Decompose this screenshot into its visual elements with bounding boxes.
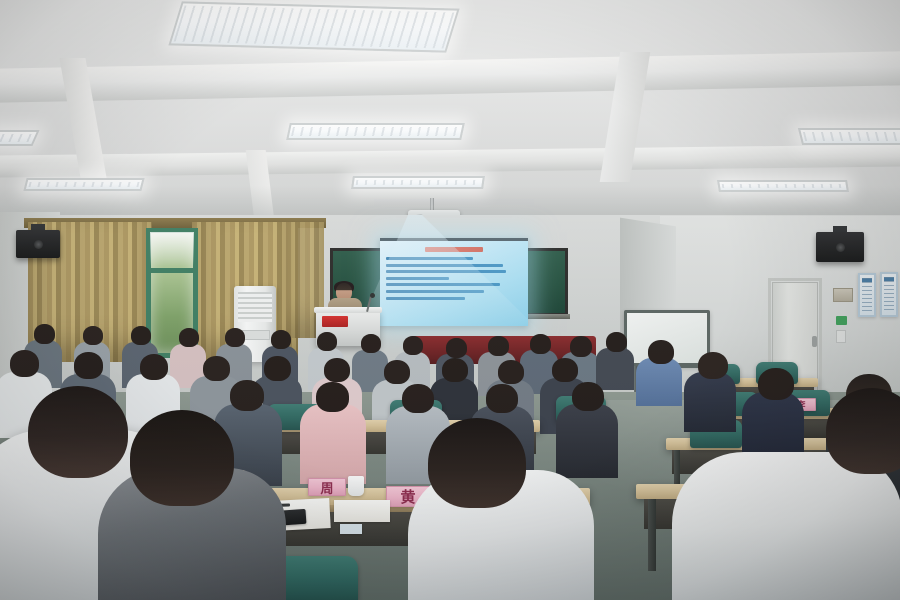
- desk-leg: [648, 499, 656, 571]
- name-placard-zhou: 周: [308, 478, 346, 496]
- classroom-photo: 李: [0, 0, 900, 600]
- audience-head: [384, 360, 410, 384]
- audience-head: [648, 340, 674, 364]
- audience-head: [230, 380, 264, 411]
- audience-head: [552, 358, 578, 382]
- slide-text-line: [386, 264, 503, 267]
- air-conditioner-vents: [238, 292, 272, 322]
- lectern-banner: [322, 316, 348, 327]
- audience-head: [316, 382, 349, 412]
- microphone-icon: [370, 293, 375, 298]
- slide-text-line: [386, 290, 484, 293]
- audience-head: [34, 324, 55, 344]
- door-handle-icon[interactable]: [812, 336, 817, 347]
- audience-head: [698, 352, 728, 379]
- slide-text-line: [386, 257, 473, 260]
- speaker-grill-right-icon: [836, 243, 845, 252]
- audience-head: [317, 332, 337, 351]
- ceiling-light-panel-1: [168, 1, 459, 52]
- audience-head: [606, 332, 627, 352]
- audience-member: [636, 358, 682, 406]
- projection-screen: [380, 238, 528, 326]
- slide-text-line: [386, 277, 449, 280]
- audience-head: [442, 358, 468, 382]
- wall-notice-board-2: [880, 272, 898, 317]
- audience-head: [179, 328, 199, 347]
- handout: [334, 500, 390, 522]
- paper-cup: [348, 476, 364, 496]
- speaker-grill-left-icon: [34, 240, 43, 249]
- slide-text-line: [386, 283, 500, 286]
- lectern-top: [314, 307, 382, 313]
- audience-head: [403, 336, 423, 355]
- ceiling-light-panel-7: [717, 180, 849, 192]
- audience-head: [203, 356, 230, 381]
- audience-head: [488, 336, 509, 356]
- audience-member: [596, 348, 634, 390]
- audience-head: [498, 360, 524, 384]
- slide-text-line: [386, 297, 465, 300]
- exit-sign-icon: [836, 316, 847, 325]
- window-glare: [150, 232, 194, 266]
- audience-head: [324, 358, 350, 382]
- small-note: [340, 524, 362, 534]
- audience-head: [264, 356, 291, 381]
- audience-head: [225, 328, 245, 347]
- audience-head: [570, 336, 592, 357]
- audience-head: [402, 384, 434, 413]
- audience-head: [271, 330, 291, 349]
- audience-member-foreground-far-right: [672, 452, 900, 600]
- ceiling-light-panel-6: [798, 128, 900, 145]
- audience-head-foreground-center: [130, 410, 234, 506]
- audience-head: [10, 350, 39, 377]
- audience-head: [74, 352, 103, 379]
- ceiling-light-panel-3: [351, 176, 485, 189]
- ceiling-light-panel-5: [23, 178, 144, 191]
- audience-head-foreground-left: [28, 386, 128, 478]
- light-switch[interactable]: [836, 330, 846, 343]
- window-mullion: [146, 268, 198, 273]
- audience-head: [140, 354, 168, 380]
- ceiling-light-panel-2: [286, 123, 465, 140]
- audience-head: [572, 382, 604, 411]
- wall-notice-board-1: [858, 273, 876, 317]
- slide-title-bar: [425, 247, 482, 252]
- audience-head: [486, 384, 518, 413]
- audience-head: [83, 326, 103, 345]
- audience-head-foreground-right: [428, 418, 526, 508]
- audience-head: [758, 368, 794, 400]
- audience-head: [446, 338, 467, 358]
- audience-head: [361, 334, 381, 353]
- wall-plaque: [833, 288, 853, 302]
- audience-member: [556, 404, 618, 478]
- audience-member: [300, 404, 366, 484]
- slide-text-line: [386, 270, 506, 273]
- audience-head: [530, 334, 551, 354]
- audience-head: [131, 326, 151, 345]
- audience-member: [684, 372, 736, 432]
